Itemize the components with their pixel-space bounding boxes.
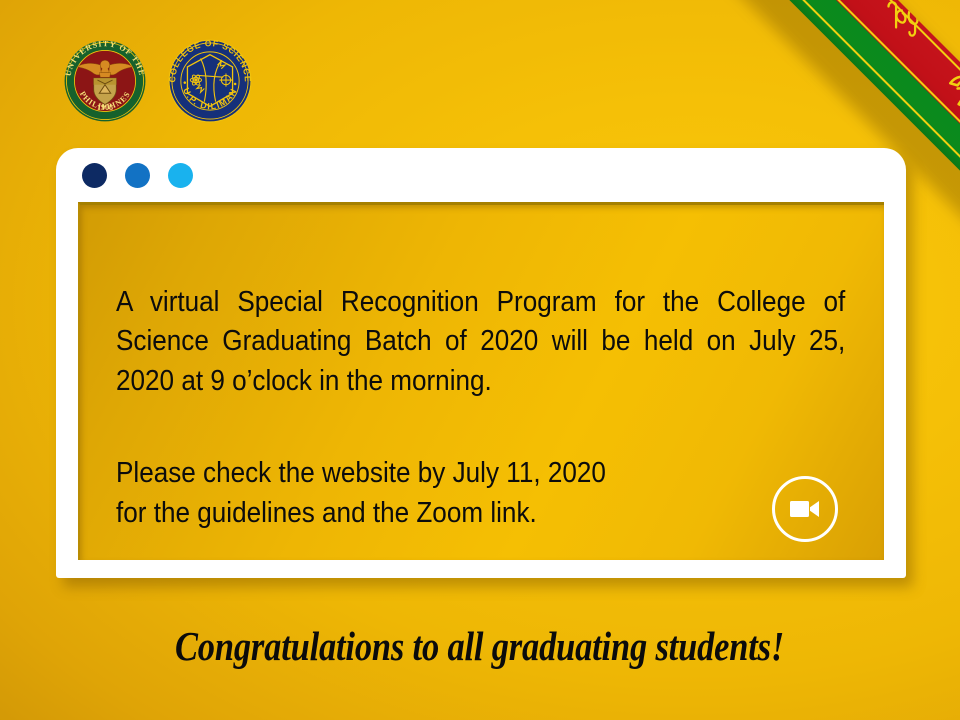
video-camera-icon [790, 499, 820, 519]
baybayin-glyph-1 [888, 2, 917, 35]
window-titlebar [56, 148, 906, 202]
window-dot-blue[interactable] [125, 163, 150, 188]
announcement-poster: UNIVERSITY OF THE PHILIPPINES 1908 [0, 0, 960, 720]
up-seal: UNIVERSITY OF THE PHILIPPINES 1908 [58, 34, 152, 128]
institution-seals: UNIVERSITY OF THE PHILIPPINES 1908 [58, 34, 257, 128]
footer: Congratulations to all graduating studen… [0, 622, 960, 670]
college-of-science-seal: COLLEGE OF SCIENCE • U.P. DILIMAN • [163, 34, 257, 128]
window-dot-navy[interactable] [82, 163, 107, 188]
paragraph-spacer [116, 401, 846, 454]
announcement-text-block: A virtual Special Recognition Program fo… [116, 283, 846, 533]
browser-window-card: A virtual Special Recognition Program fo… [56, 148, 906, 578]
announcement-paragraph-1: A virtual Special Recognition Program fo… [116, 283, 845, 401]
announcement-paragraph-2-line-1: Please check the website by July 11, 202… [116, 454, 845, 493]
video-call-badge[interactable] [772, 476, 838, 542]
announcement-paragraph-2-line-2: for the guidelines and the Zoom link. [116, 494, 845, 533]
baybayin-glyph-2 [950, 77, 960, 117]
svg-text:1908: 1908 [97, 103, 113, 112]
congratulations-text: Congratulations to all graduating studen… [175, 622, 784, 670]
window-dot-cyan[interactable] [168, 163, 193, 188]
announcement-panel: A virtual Special Recognition Program fo… [78, 202, 884, 560]
